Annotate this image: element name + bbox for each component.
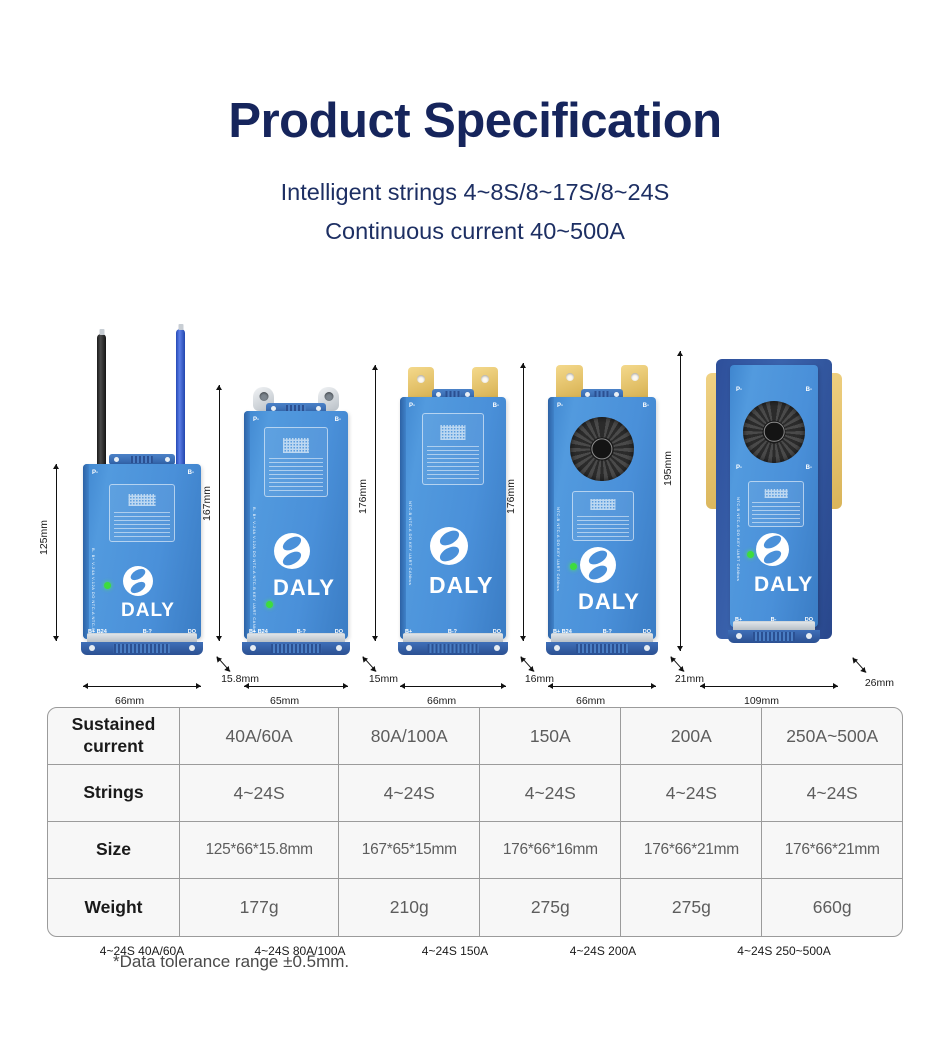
- row-label-sustained-current: Sustained current: [48, 708, 180, 765]
- daly-logo-text: DALY: [429, 572, 494, 599]
- cell-sustained-current-2: 80A/100A: [339, 708, 480, 765]
- status-led-icon: [570, 563, 577, 570]
- row-label-strings: Strings: [48, 765, 180, 822]
- device-body-1: P- B- B- B+ V-24A V-12A DO NTC-A NTC-B K…: [83, 464, 201, 639]
- cable-black-icon: [97, 334, 106, 466]
- product-label-3: [422, 413, 484, 485]
- cell-weight-2: 210g: [339, 879, 480, 936]
- cell-size-4: 176*66*21mm: [621, 822, 762, 879]
- product-caption-5: 4~24S 250~500A: [737, 944, 830, 958]
- dim-depth-5: 26mm: [865, 677, 894, 689]
- qr-code-icon: [440, 425, 465, 440]
- dim-depth-2: 15mm: [369, 673, 398, 685]
- daly-logo-text: DALY: [578, 589, 640, 615]
- cell-weight-4: 275g: [621, 879, 762, 936]
- qr-code-icon: [765, 489, 788, 499]
- product-label-2: [264, 427, 328, 497]
- cell-size-1: 125*66*15.8mm: [180, 822, 339, 879]
- cell-sustained-current-1: 40A/60A: [180, 708, 339, 765]
- top-bracket: [109, 454, 175, 465]
- device-base: [546, 642, 658, 655]
- daly-logo-text: DALY: [273, 575, 335, 601]
- table-row-strings: Strings 4~24S 4~24S 4~24S 4~24S 4~24S: [48, 765, 902, 822]
- dim-height-3: 176mm: [357, 479, 369, 514]
- cell-strings-3: 4~24S: [480, 765, 621, 822]
- qr-code-icon: [283, 438, 309, 453]
- footnote-text: *Data tolerance range ±0.5mm.: [113, 952, 349, 972]
- device-base: [398, 642, 508, 655]
- daly-logo-mark-icon: [274, 533, 310, 569]
- cell-size-3: 176*66*16mm: [480, 822, 621, 879]
- cell-weight-5: 660g: [762, 879, 902, 936]
- port-silkscreen-5: NTC-B NTC-A DO KEY UART CANbus: [736, 497, 741, 569]
- subtitle-line-1: Intelligent strings 4~8S/8~17S/8~24S: [0, 173, 950, 211]
- device-body-5: P- B- P- B- NTC-B NTC-A DO KEY UART CANb…: [730, 365, 818, 627]
- status-led-icon: [747, 551, 754, 558]
- dim-width-1: 66mm: [115, 695, 144, 707]
- daly-logo-mark-icon: [580, 547, 616, 583]
- product-image-5: P- B- P- B- NTC-B NTC-A DO KEY UART CANb…: [700, 351, 848, 639]
- product-image-3: P- B- NTC-B NTC-A DO KEY UART CANbus DAL…: [400, 397, 506, 639]
- cell-strings-2: 4~24S: [339, 765, 480, 822]
- row-label-size: Size: [48, 822, 180, 879]
- cell-strings-5: 4~24S: [762, 765, 902, 822]
- cooling-fan-icon: [570, 417, 634, 481]
- device-base: [242, 642, 350, 655]
- daly-logo-text: DALY: [754, 573, 813, 597]
- dim-height-4: 176mm: [505, 479, 517, 514]
- device-body-4: P- B- NTC-B NTC-A DO KEY UART CANbus DAL…: [548, 397, 656, 639]
- device-body-2: P- B- B- B+ V-24A V-12A DO NTC-A NTC-B K…: [244, 411, 348, 639]
- page-header: Product Specification Intelligent string…: [0, 0, 950, 250]
- product-label-5: [748, 481, 804, 527]
- qr-code-icon: [129, 494, 156, 506]
- dim-width-5: 109mm: [744, 695, 779, 707]
- dim-width-2: 65mm: [270, 695, 299, 707]
- dim-height-2: 167mm: [201, 486, 213, 521]
- product-label-4: [572, 491, 634, 541]
- cell-size-2: 167*65*15mm: [339, 822, 480, 879]
- cell-sustained-current-4: 200A: [621, 708, 762, 765]
- row-label-weight: Weight: [48, 879, 180, 936]
- status-led-icon: [266, 601, 273, 608]
- port-silkscreen-1: B- B+ V-24A V-12A DO NTC-A NTC-B KEY UAR…: [91, 548, 96, 620]
- product-image-4: P- B- NTC-B NTC-A DO KEY UART CANbus DAL…: [548, 397, 656, 639]
- device-base: [728, 630, 820, 643]
- port-silkscreen-3: NTC-B NTC-A DO KEY UART CANbus: [408, 501, 413, 581]
- daly-logo-text: DALY: [121, 600, 175, 622]
- specification-table: Sustained current 40A/60A 80A/100A 150A …: [47, 707, 903, 937]
- cell-size-5: 176*66*21mm: [762, 822, 902, 879]
- dim-height-1: 125mm: [38, 520, 50, 555]
- product-showcase: P- B- B- B+ V-24A V-12A DO NTC-A NTC-B K…: [0, 272, 950, 672]
- dim-width-4: 66mm: [576, 695, 605, 707]
- device-body-3: P- B- NTC-B NTC-A DO KEY UART CANbus DAL…: [400, 397, 506, 639]
- product-caption-3: 4~24S 150A: [422, 944, 488, 958]
- dim-depth-1: 15.8mm: [221, 673, 259, 685]
- table-row-weight: Weight 177g 210g 275g 275g 660g: [48, 879, 902, 936]
- table-row-size: Size 125*66*15.8mm 167*65*15mm 176*66*16…: [48, 822, 902, 879]
- page-subtitle: Intelligent strings 4~8S/8~17S/8~24S Con…: [0, 173, 950, 249]
- dim-width-3: 66mm: [427, 695, 456, 707]
- product-label-1: [109, 484, 175, 542]
- dim-height-5: 195mm: [662, 451, 674, 486]
- cell-strings-1: 4~24S: [180, 765, 339, 822]
- cell-sustained-current-3: 150A: [480, 708, 621, 765]
- daly-logo-mark-icon: [430, 527, 468, 565]
- cell-strings-4: 4~24S: [621, 765, 762, 822]
- port-silkscreen-2: B- B+ V-24A V-12A DO NTC-A NTC-B KEY UAR…: [252, 507, 257, 591]
- qr-code-icon: [590, 499, 615, 510]
- daly-logo-mark-icon: [123, 566, 153, 596]
- subtitle-line-2: Continuous current 40~500A: [0, 212, 950, 250]
- device-base: [81, 642, 204, 655]
- daly-logo-mark-icon: [756, 533, 789, 566]
- cell-weight-1: 177g: [180, 879, 339, 936]
- product-image-2: P- B- B- B+ V-24A V-12A DO NTC-A NTC-B K…: [244, 411, 348, 639]
- port-silkscreen-4: NTC-B NTC-A DO KEY UART CANbus: [556, 507, 561, 585]
- product-image-1: P- B- B- B+ V-24A V-12A DO NTC-A NTC-B K…: [83, 464, 201, 639]
- cell-weight-3: 275g: [480, 879, 621, 936]
- status-led-icon: [104, 582, 111, 589]
- cable-blue-icon: [176, 329, 185, 466]
- cell-sustained-current-5: 250A~500A: [762, 708, 902, 765]
- product-caption-4: 4~24S 200A: [570, 944, 636, 958]
- page-title: Product Specification: [0, 96, 950, 147]
- table-row-sustained-current: Sustained current 40A/60A 80A/100A 150A …: [48, 708, 902, 765]
- cooling-fan-icon: [743, 401, 805, 463]
